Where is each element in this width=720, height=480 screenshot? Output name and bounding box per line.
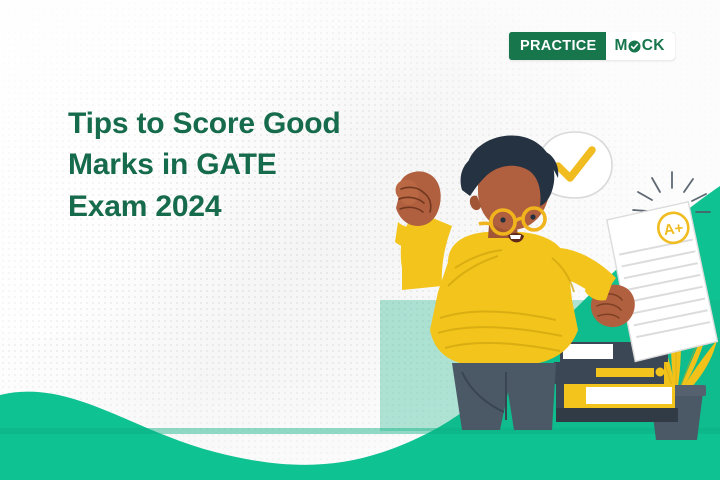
check-in-o-icon	[628, 40, 641, 53]
raised-fist	[395, 171, 443, 249]
page-title: Tips to Score Good Marks in GATE Exam 20…	[68, 103, 398, 227]
sweater	[430, 232, 578, 365]
banner-root: A+ PRACTICE M	[0, 0, 720, 480]
logo-practice-text: PRACTICE	[509, 32, 606, 60]
logo-mock-text: M CK	[606, 32, 675, 60]
logo-mock-ck: CK	[642, 38, 665, 54]
logo-mock-m: M	[615, 38, 628, 54]
illustration-student: A+	[0, 0, 720, 480]
practicemock-logo[interactable]: PRACTICE M CK	[509, 32, 675, 60]
head	[461, 135, 559, 242]
grade-label: A+	[663, 220, 685, 239]
